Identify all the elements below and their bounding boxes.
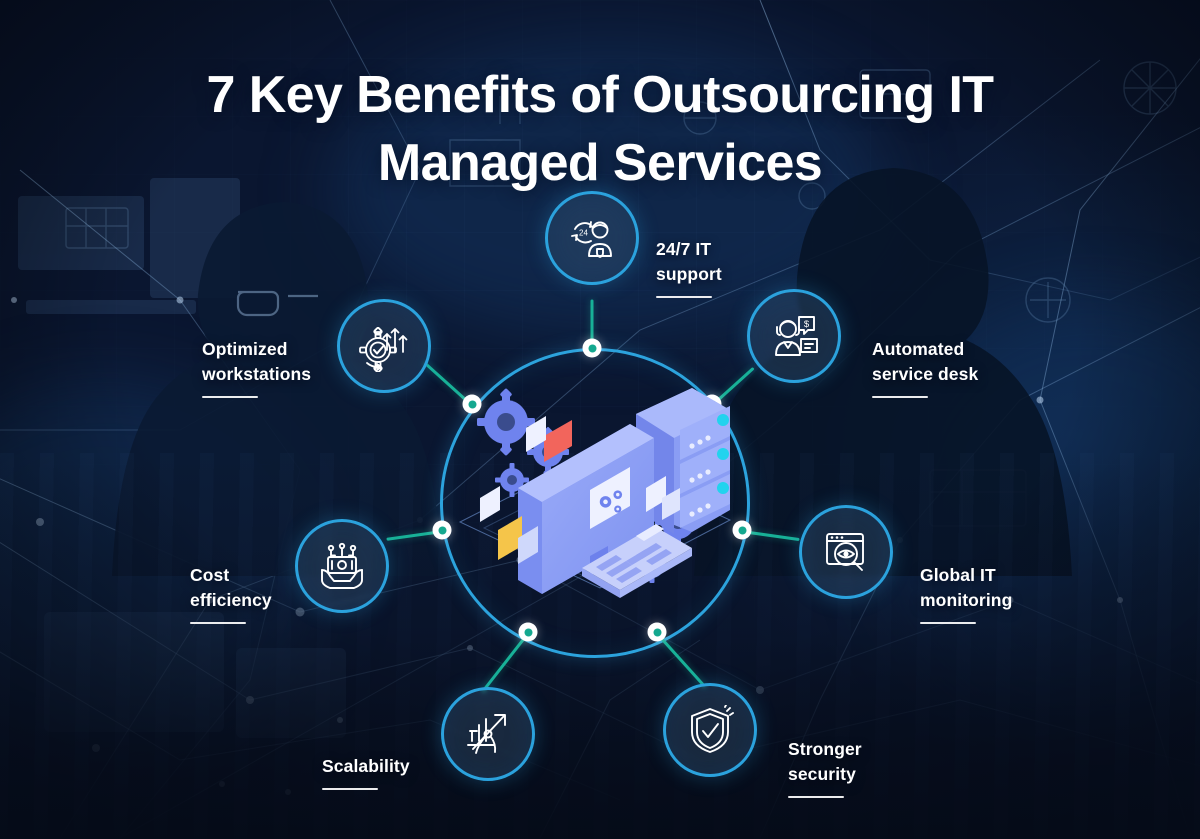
card-white-2 (480, 486, 500, 522)
benefit-label-monitoring-text: Global IT monitoring (920, 565, 1012, 610)
benefit-icon-cost[interactable] (295, 519, 389, 613)
benefit-icon-monitoring[interactable] (799, 505, 893, 599)
benefit-label-rule (788, 796, 844, 798)
benefit-label-service-desk-text: Automated service desk (872, 339, 978, 384)
headset-24-7-icon: 24 (567, 213, 617, 263)
benefits-hub: 24 $ (0, 0, 1200, 839)
benefit-label-rule (872, 396, 928, 398)
service-agent-chat-icon: $ (768, 311, 820, 361)
benefit-icon-service-desk[interactable]: $ (747, 289, 841, 383)
spoke-line-security (656, 632, 706, 688)
benefit-icon-security[interactable] (663, 683, 757, 777)
central-it-illustration (440, 370, 750, 630)
benefit-label-rule (202, 396, 258, 398)
benefit-label-rule (656, 296, 712, 298)
benefit-label-rule (322, 788, 378, 790)
benefit-label-support: 24/7 IT support (656, 212, 722, 322)
benefit-label-security: Stronger security (788, 712, 862, 822)
benefit-label-security-text: Stronger security (788, 739, 862, 784)
ring-node-support (583, 339, 602, 358)
spoke-line-scalability (481, 633, 529, 693)
benefit-icon-workstations[interactable] (337, 299, 431, 393)
benefit-label-scalability-text: Scalability (322, 756, 410, 776)
benefit-icon-support[interactable]: 24 (545, 191, 639, 285)
benefit-label-workstations-text: Optimized workstations (202, 339, 311, 384)
gear-check-arrows-icon (358, 320, 410, 372)
benefit-label-monitoring: Global IT monitoring (920, 538, 1012, 648)
growth-chart-arrow-icon (463, 709, 513, 759)
benefit-icon-scalability[interactable] (441, 687, 535, 781)
shield-check-icon (686, 705, 734, 755)
benefit-label-cost: Cost efficiency (190, 538, 272, 648)
svg-text:24: 24 (579, 229, 588, 238)
benefit-label-rule (190, 622, 246, 624)
benefit-label-service-desk: Automated service desk (872, 312, 978, 422)
browser-eye-magnifier-icon (821, 527, 871, 577)
benefit-label-rule (920, 622, 976, 624)
hands-money-circuit-icon (317, 541, 367, 591)
svg-text:$: $ (804, 319, 810, 330)
benefit-label-scalability: Scalability (322, 729, 410, 815)
benefit-label-workstations: Optimized workstations (202, 312, 311, 422)
benefit-label-cost-text: Cost efficiency (190, 565, 272, 610)
infographic-canvas: 7 Key Benefits of Outsourcing IT Managed… (0, 0, 1200, 839)
benefit-label-support-text: 24/7 IT support (656, 239, 722, 284)
